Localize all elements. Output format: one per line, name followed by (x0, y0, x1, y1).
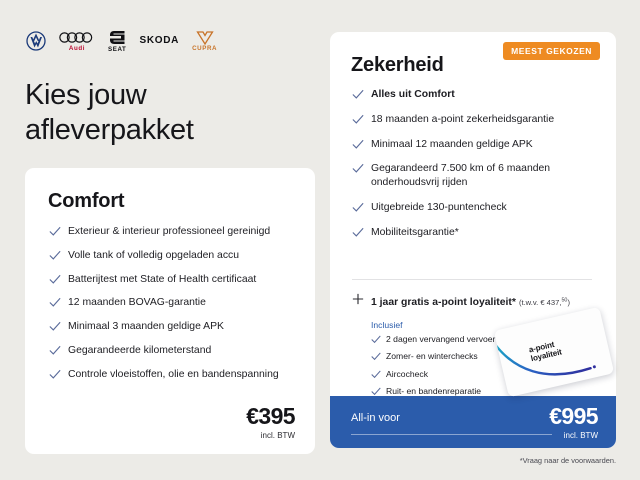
list-item: Gegarandeerd 7.500 km of 6 maanden onder… (352, 162, 602, 190)
check-icon (352, 89, 364, 100)
comfort-price-block: €395 incl. BTW (246, 405, 295, 440)
check-icon (49, 369, 61, 380)
check-icon (371, 387, 381, 396)
check-icon (352, 202, 364, 213)
package-card-comfort[interactable]: Comfort Exterieur & interieur profession… (25, 168, 315, 454)
zekerheid-price-block: €995 incl. BTW (549, 405, 598, 440)
loyalty-value: (t.w.v. € 437,50) (519, 298, 570, 307)
check-icon (49, 297, 61, 308)
page-title-line-2: afleverpakket (25, 113, 315, 148)
check-icon (352, 139, 364, 150)
cupra-wordmark: CUPRA (192, 46, 217, 52)
cupra-logo-icon: CUPRA (192, 31, 217, 53)
plus-icon (352, 292, 364, 304)
loyalty-label: 1 jaar gratis a-point loyaliteit* (371, 297, 516, 308)
zekerheid-card-title: Zekerheid (351, 54, 444, 77)
status-badge: MEEST GEKOZEN (503, 42, 600, 60)
check-icon (371, 370, 381, 379)
list-item: Minimaal 3 maanden geldige APK (49, 320, 299, 334)
list-item: 12 maanden BOVAG-garantie (49, 296, 299, 310)
audi-wordmark: Audi (69, 46, 85, 52)
package-card-zekerheid[interactable]: MEEST GEKOZEN Zekerheid Alles uit Comfor… (330, 32, 616, 448)
list-item-label: Gegarandeerd 7.500 km of 6 maanden onder… (371, 163, 550, 188)
loyalty-offer-row: 1 jaar gratis a-point loyaliteit*(t.w.v.… (352, 292, 604, 310)
allin-label: All-in voor (351, 412, 400, 424)
check-icon (371, 352, 381, 361)
list-item: Volle tank of volledig opgeladen accu (49, 249, 299, 263)
brand-logo-bar: Audi SEAT SKODA CUPRA (26, 30, 217, 53)
list-item-label: Aircocheck (386, 369, 428, 379)
list-item: Alles uit Comfort (352, 88, 602, 102)
promo-panel: Audi SEAT SKODA CUPRA Kies jouw afleverp… (0, 0, 640, 480)
page-title: Kies jouw afleverpakket (25, 78, 315, 149)
check-icon (49, 345, 61, 356)
list-item-label: Zomer- en winterchecks (386, 351, 478, 361)
list-item-label: Ruit- en bandenreparatie (386, 386, 481, 396)
list-item-label: 2 dagen vervangend vervoer (386, 334, 495, 344)
loyalty-value-suffix: ) (567, 298, 570, 307)
footnote-text: *Vraag naar de voorwaarden. (520, 456, 616, 465)
skoda-wordmark: SKODA (139, 36, 179, 46)
list-item: Controle vloeistoffen, olie en bandenspa… (49, 368, 299, 382)
audi-logo-icon: Audi (59, 31, 95, 52)
list-item-label: Minimaal 12 maanden geldige APK (371, 139, 533, 150)
zekerheid-price-footer: All-in voor €995 incl. BTW (330, 396, 616, 448)
list-item: Batterijtest met State of Health certifi… (49, 273, 299, 287)
list-item-label: Gegarandeerde kilometerstand (68, 345, 211, 356)
zekerheid-feature-list: Alles uit Comfort 18 maanden a-point zek… (352, 88, 602, 251)
zekerheid-price-amount: €995 (549, 405, 598, 428)
list-item-label: Minimaal 3 maanden geldige APK (68, 321, 224, 332)
seat-logo-icon: SEAT (108, 30, 126, 53)
comfort-price-amount: €395 (246, 405, 295, 428)
comfort-card-title: Comfort (48, 190, 124, 213)
list-item-label: Uitgebreide 130-puntencheck (371, 202, 507, 213)
included-heading: Inclusief (371, 320, 403, 330)
check-icon (49, 226, 61, 237)
page-title-line-1: Kies jouw (25, 79, 146, 111)
list-item-label: Volle tank of volledig opgeladen accu (68, 250, 239, 261)
list-item-label: Controle vloeistoffen, olie en bandenspa… (68, 369, 279, 380)
list-item-label: Batterijtest met State of Health certifi… (68, 274, 256, 285)
check-icon (371, 335, 381, 344)
list-item: Mobiliteitsgarantie* (352, 226, 602, 240)
list-item-label: Alles uit Comfort (371, 89, 455, 100)
check-icon (352, 227, 364, 238)
comfort-feature-list: Exterieur & interieur professioneel gere… (49, 225, 299, 392)
list-item: 18 maanden a-point zekerheidsgarantie (352, 113, 602, 127)
list-item: Gegarandeerde kilometerstand (49, 344, 299, 358)
list-item-label: 18 maanden a-point zekerheidsgarantie (371, 114, 554, 125)
allin-rule (351, 434, 552, 435)
check-icon (49, 250, 61, 261)
check-icon (49, 274, 61, 285)
comfort-price-note: incl. BTW (246, 431, 295, 440)
list-item: Exterieur & interieur professioneel gere… (49, 225, 299, 239)
volkswagen-logo-icon (26, 31, 46, 51)
list-item-label: 12 maanden BOVAG-garantie (68, 297, 206, 308)
skoda-logo-icon: SKODA (139, 36, 179, 46)
list-item-label: Exterieur & interieur professioneel gere… (68, 226, 270, 237)
check-icon (49, 321, 61, 332)
zekerheid-price-note: incl. BTW (549, 431, 598, 440)
list-item: Uitgebreide 130-puntencheck (352, 201, 602, 215)
seat-wordmark: SEAT (108, 47, 126, 53)
list-item: Minimaal 12 maanden geldige APK (352, 138, 602, 152)
check-icon (352, 163, 364, 174)
check-icon (352, 114, 364, 125)
loyalty-value-prefix: (t.w.v. € 437, (519, 298, 562, 307)
section-divider (352, 279, 592, 280)
list-item-label: Mobiliteitsgarantie* (371, 227, 459, 238)
